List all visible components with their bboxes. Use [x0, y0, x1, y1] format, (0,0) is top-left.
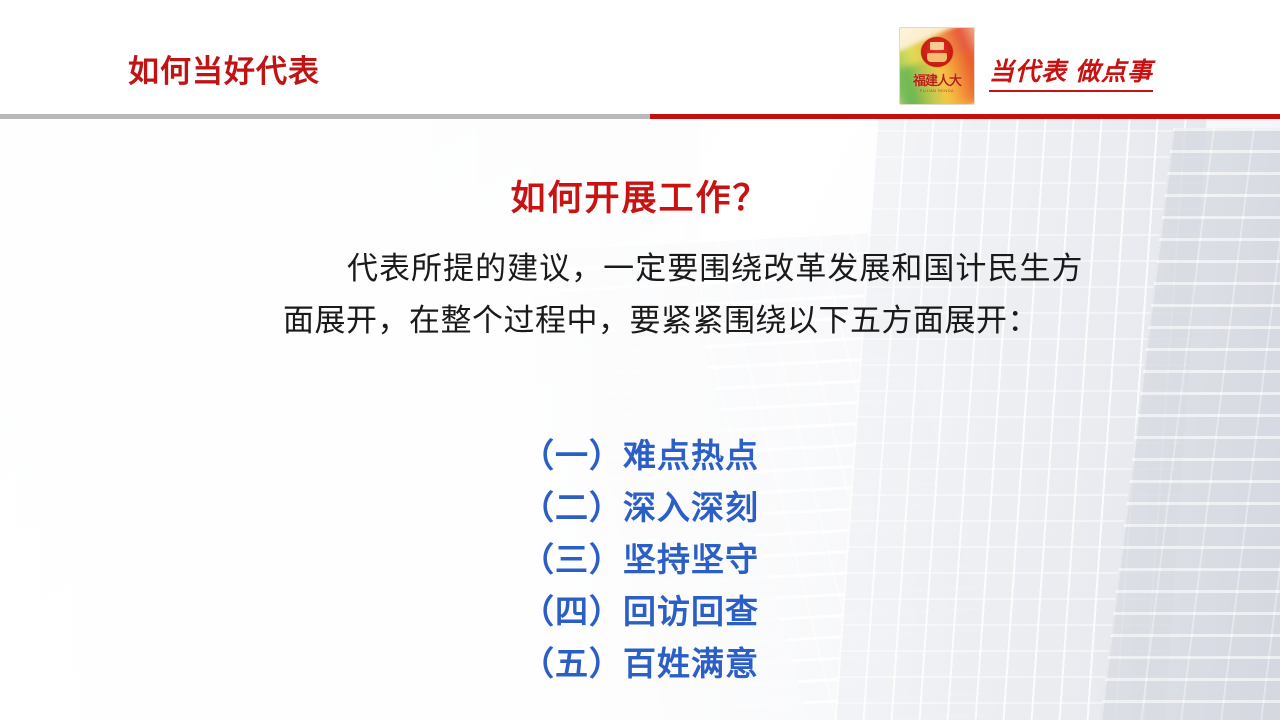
national-emblem-icon	[921, 37, 953, 67]
logo-script-text: 福建人大	[900, 70, 974, 89]
slide: 如何当好代表 福建人大 FUJIAN RENDA 当代表 做点事 如何开展工作？…	[0, 0, 1280, 720]
list-item: （五）百姓满意	[0, 638, 1280, 690]
slide-content: 如何开展工作？ 代表所提的建议，一定要围绕改革发展和国计民生方面展开，在整个过程…	[0, 118, 1280, 720]
list-item: （一）难点热点	[0, 430, 1280, 482]
page-title: 如何当好代表	[128, 46, 320, 91]
header-slogan: 当代表 做点事	[989, 52, 1153, 92]
bullet-list: （一）难点热点 （二）深入深刻 （三）坚持坚守 （四）回访回查 （五）百姓满意	[0, 430, 1280, 690]
list-item: （三）坚持坚守	[0, 534, 1280, 586]
logo-subtitle-text: FUJIAN RENDA	[900, 88, 974, 93]
section-heading: 如何开展工作？	[0, 170, 1280, 221]
logo-badge: 福建人大 FUJIAN RENDA	[899, 27, 975, 105]
list-item: （二）深入深刻	[0, 482, 1280, 534]
slide-header: 如何当好代表 福建人大 FUJIAN RENDA 当代表 做点事	[0, 0, 1280, 118]
body-paragraph: 代表所提的建议，一定要围绕改革发展和国计民生方面展开，在整个过程中，要紧紧围绕以…	[283, 243, 1083, 347]
list-item: （四）回访回查	[0, 586, 1280, 638]
